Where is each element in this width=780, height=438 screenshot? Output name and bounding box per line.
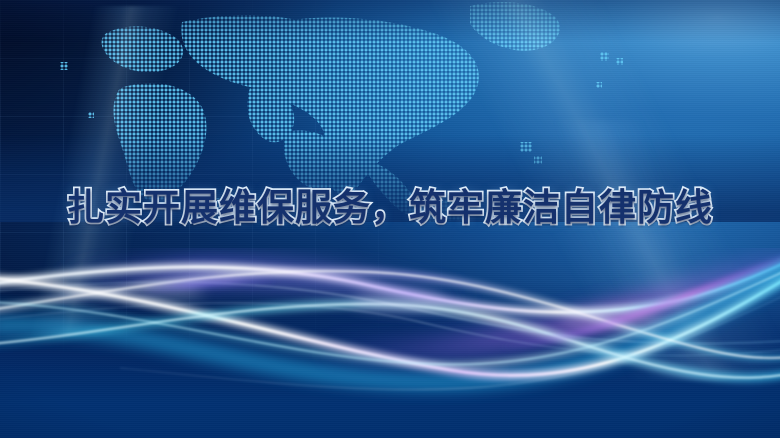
- light-wave-ribbon-icon: [0, 248, 780, 438]
- slide-canvas: 扎实开展维保服务，筑牢廉洁自律防线: [0, 0, 780, 438]
